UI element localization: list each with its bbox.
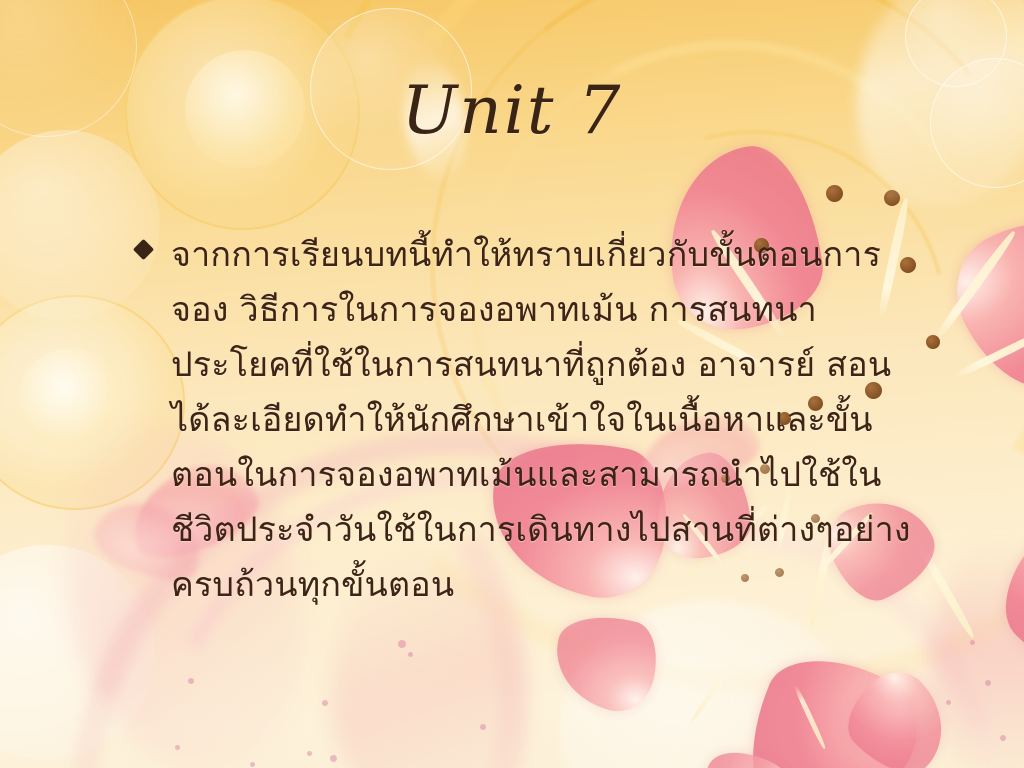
speck	[398, 640, 406, 648]
flower-petal	[979, 491, 1024, 717]
flower-anther-dot	[884, 190, 900, 206]
body-text-line: จอง วิธีการในการจองอพาทเม้น การสนทนา	[171, 283, 966, 338]
body-text-line: ตอนในการจองอพาทเม้นและสามารถนำไปใช้ใน	[171, 448, 966, 503]
body-text-line: ได้ละเอียดทำให้นักศึกษาเข้าใจในเนื้อหาแล…	[171, 393, 966, 448]
speck	[985, 680, 991, 686]
presentation-slide: Unit 7 จากการเรียนบทนี้ทำให้ทราบเกี่ยวกั…	[0, 0, 1024, 768]
speck	[330, 755, 337, 762]
bubble-left-middle-core	[18, 348, 126, 453]
slide-body-text: จากการเรียนบทนี้ทำให้ทราบเกี่ยวกับขั้นตอ…	[171, 228, 966, 613]
flower-petal	[833, 658, 966, 768]
speck	[1000, 735, 1006, 741]
speck	[946, 700, 951, 705]
speck	[408, 652, 413, 657]
flower-petal	[724, 638, 935, 768]
speck	[322, 700, 328, 706]
speck	[250, 762, 255, 767]
speck	[307, 751, 312, 756]
body-text-line: ประโยคที่ใช้ในการสนทนาที่ถูกต้อง อาจารย์…	[171, 338, 966, 393]
speck	[188, 678, 194, 684]
speck	[970, 640, 975, 645]
slide-title: Unit 7	[0, 72, 1024, 149]
slide-body-bullet-block: จากการเรียนบทนี้ทำให้ทราบเกี่ยวกับขั้นตอ…	[136, 228, 966, 613]
flower-anther-dot	[826, 185, 843, 202]
speck	[480, 724, 486, 730]
diamond-bullet-icon	[133, 239, 154, 260]
bubble-bottom-center-white	[560, 600, 860, 768]
speck	[175, 745, 180, 750]
flower-stamen	[690, 667, 731, 722]
body-text-line: จากการเรียนบทนี้ทำให้ทราบเกี่ยวกับขั้นตอ…	[171, 228, 966, 283]
body-text-line: ครบถ้วนทุกขั้นตอน	[171, 558, 966, 613]
flower-petal	[679, 738, 807, 768]
flower-stamen	[793, 684, 827, 750]
bubble-left-lower-white	[0, 545, 155, 760]
body-text-line: ชีวิตประจำวันใช้ในการเดินทางไปสานที่ต่าง…	[171, 503, 966, 558]
flower-petal	[545, 605, 666, 719]
